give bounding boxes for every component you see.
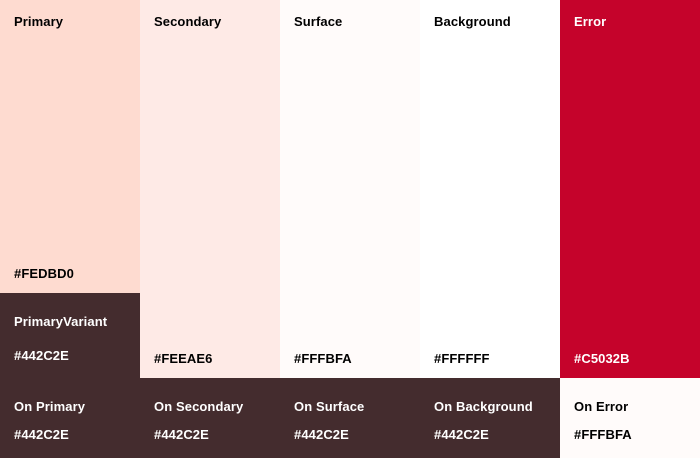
oncolor-background[interactable]: On Background#442C2E <box>420 378 560 458</box>
swatch-label-background: Background <box>434 14 511 30</box>
swatch-label-primary-variant: PrimaryVariant <box>14 314 107 330</box>
swatch-primary-variant[interactable]: PrimaryVariant#442C2E <box>0 293 140 378</box>
oncolor-primary[interactable]: On Primary#442C2E <box>0 378 140 458</box>
oncolor-label-error: On Error <box>574 399 628 415</box>
swatch-hex-error: #C5032B <box>574 351 630 367</box>
oncolor-label-secondary: On Secondary <box>154 399 243 415</box>
swatch-error[interactable]: Error#C5032B <box>560 0 700 378</box>
swatch-surface[interactable]: Surface#FFFBFA <box>280 0 420 378</box>
oncolor-hex-background: #442C2E <box>434 427 489 443</box>
oncolor-hex-primary: #442C2E <box>14 427 69 443</box>
oncolor-secondary[interactable]: On Secondary#442C2E <box>140 378 280 458</box>
swatch-hex-surface: #FFFBFA <box>294 351 352 367</box>
swatch-primary[interactable]: Primary#FEDBD0 <box>0 0 140 293</box>
swatch-label-secondary: Secondary <box>154 14 221 30</box>
swatch-hex-primary-variant: #442C2E <box>14 348 69 364</box>
oncolor-error[interactable]: On Error#FFFBFA <box>560 378 700 458</box>
swatch-hex-primary: #FEDBD0 <box>14 266 74 282</box>
swatch-secondary[interactable]: Secondary#FEEAE6 <box>140 0 280 378</box>
swatch-label-primary: Primary <box>14 14 63 30</box>
swatch-label-error: Error <box>574 14 606 30</box>
swatch-label-surface: Surface <box>294 14 342 30</box>
swatch-hex-secondary: #FEEAE6 <box>154 351 213 367</box>
oncolor-hex-surface: #442C2E <box>294 427 349 443</box>
oncolor-surface[interactable]: On Surface#442C2E <box>280 378 420 458</box>
oncolor-label-surface: On Surface <box>294 399 364 415</box>
oncolor-label-primary: On Primary <box>14 399 85 415</box>
oncolor-hex-error: #FFFBFA <box>574 427 632 443</box>
swatch-hex-background: #FFFFFF <box>434 351 490 367</box>
oncolor-label-background: On Background <box>434 399 533 415</box>
color-palette: Primary#FEDBD0PrimaryVariant#442C2EOn Pr… <box>0 0 700 458</box>
swatch-background[interactable]: Background#FFFFFF <box>420 0 560 378</box>
oncolor-hex-secondary: #442C2E <box>154 427 209 443</box>
